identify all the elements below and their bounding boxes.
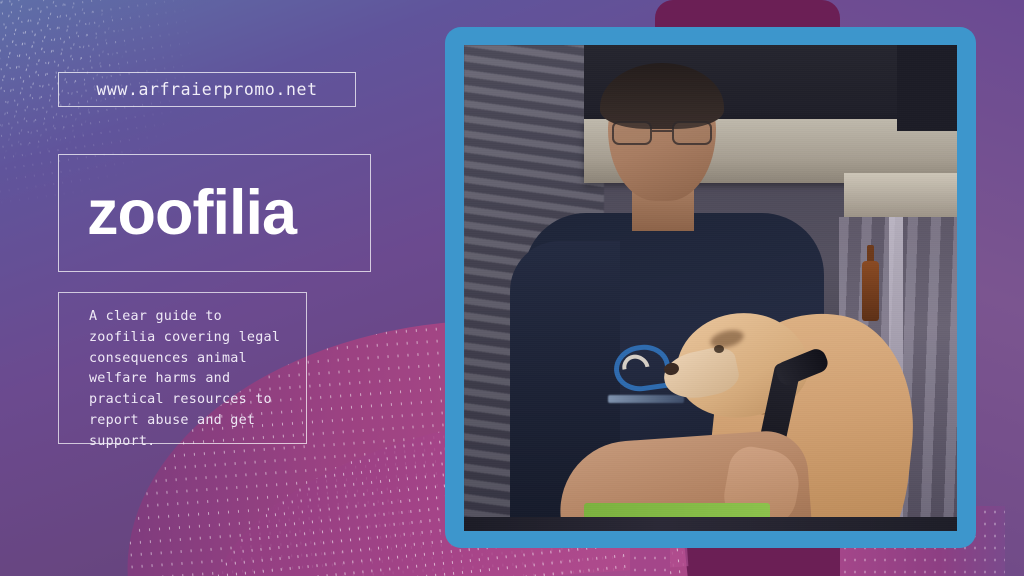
glasses-icon xyxy=(612,121,712,145)
glasses-bridge xyxy=(652,130,672,132)
website-url-box[interactable]: www.arfraierpromo.net xyxy=(58,72,356,107)
photo-image xyxy=(464,45,957,531)
website-url-text: www.arfraierpromo.net xyxy=(96,80,317,99)
shirt-logo-text xyxy=(608,395,684,403)
photo-dog-eye xyxy=(714,345,724,353)
photo-bottle xyxy=(862,261,879,321)
glasses-left-lens xyxy=(612,121,652,145)
photo-dark-corner xyxy=(897,45,957,131)
photo-bottom-strip xyxy=(464,517,957,531)
banner-canvas: www.arfraierpromo.net zoofilia A clear g… xyxy=(0,0,1024,576)
description-box: A clear guide to zoofilia covering legal… xyxy=(58,292,307,444)
description-text: A clear guide to zoofilia covering legal… xyxy=(89,307,288,452)
page-title: zoofilia xyxy=(87,182,296,245)
title-box: zoofilia xyxy=(58,154,371,272)
shirt-heart-icon xyxy=(614,345,670,391)
glasses-right-lens xyxy=(672,121,712,145)
photo-frame xyxy=(445,27,976,548)
photo-light-beam-secondary xyxy=(844,173,957,217)
